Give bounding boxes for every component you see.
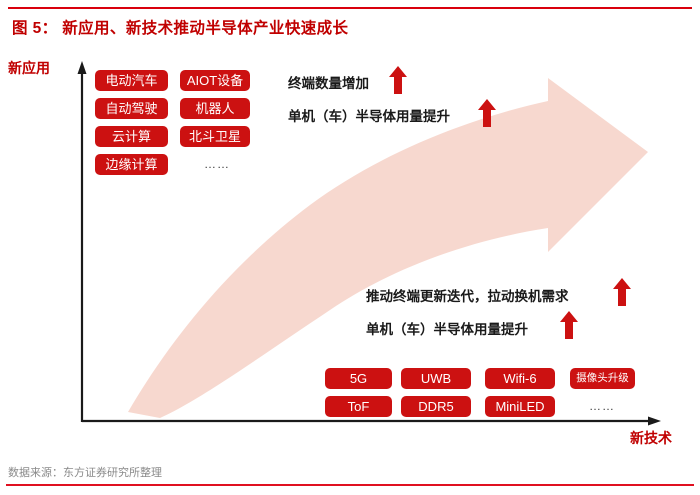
y-axis-label: 新应用 [8, 58, 50, 78]
tag-new-application-autonomous-driving[interactable]: 自动驾驶 [95, 98, 168, 119]
annotation-semiconductor-content-per-unit-top: 单机（车）半导体用量提升 [288, 105, 450, 125]
annotation-semiconductor-content-per-unit-bottom: 单机（车）半导体用量提升 [366, 318, 528, 338]
tag-new-application-edge-computing[interactable]: 边缘计算 [95, 154, 168, 175]
up-arrow-icon [478, 99, 496, 127]
tag-new-technology-wifi6[interactable]: Wifi-6 [485, 368, 555, 389]
up-arrow-icon [560, 311, 578, 339]
up-arrow-icon [613, 278, 631, 306]
top-divider [8, 7, 692, 9]
tag-new-application-ev[interactable]: 电动汽车 [95, 70, 168, 91]
tag-new-application-cloud-computing[interactable]: 云计算 [95, 126, 168, 147]
tag-new-application-aiot-device[interactable]: AIOT设备 [180, 70, 250, 91]
x-axis-label: 新技术 [630, 428, 672, 448]
annotation-terminal-count-growth: 终端数量增加 [288, 72, 369, 92]
new-applications-ellipsis: …… [197, 154, 237, 175]
tag-new-technology-uwb[interactable]: UWB [401, 368, 471, 389]
tag-new-application-beidou-satellite[interactable]: 北斗卫星 [180, 126, 250, 147]
bottom-divider [6, 484, 694, 486]
source-note: 数据来源：东方证券研究所整理 [8, 464, 162, 480]
annotation-device-upgrade-demand: 推动终端更新迭代，拉动换机需求 [366, 285, 569, 305]
figure-title: 图 5： 新应用、新技术推动半导体产业快速成长 [12, 16, 348, 38]
new-technologies-ellipsis: …… [582, 396, 622, 417]
up-arrow-icon [389, 66, 407, 94]
tag-new-technology-camera-upgrade[interactable]: 摄像头升级 [570, 368, 635, 389]
tag-new-technology-5g[interactable]: 5G [325, 368, 392, 389]
figure-canvas: 图 5： 新应用、新技术推动半导体产业快速成长 新应用 新技术 电动汽车 自动驾… [0, 0, 700, 495]
tag-new-technology-miniled[interactable]: MiniLED [485, 396, 555, 417]
tag-new-technology-ddr5[interactable]: DDR5 [401, 396, 471, 417]
tag-new-application-robot[interactable]: 机器人 [180, 98, 250, 119]
tag-new-technology-tof[interactable]: ToF [325, 396, 392, 417]
